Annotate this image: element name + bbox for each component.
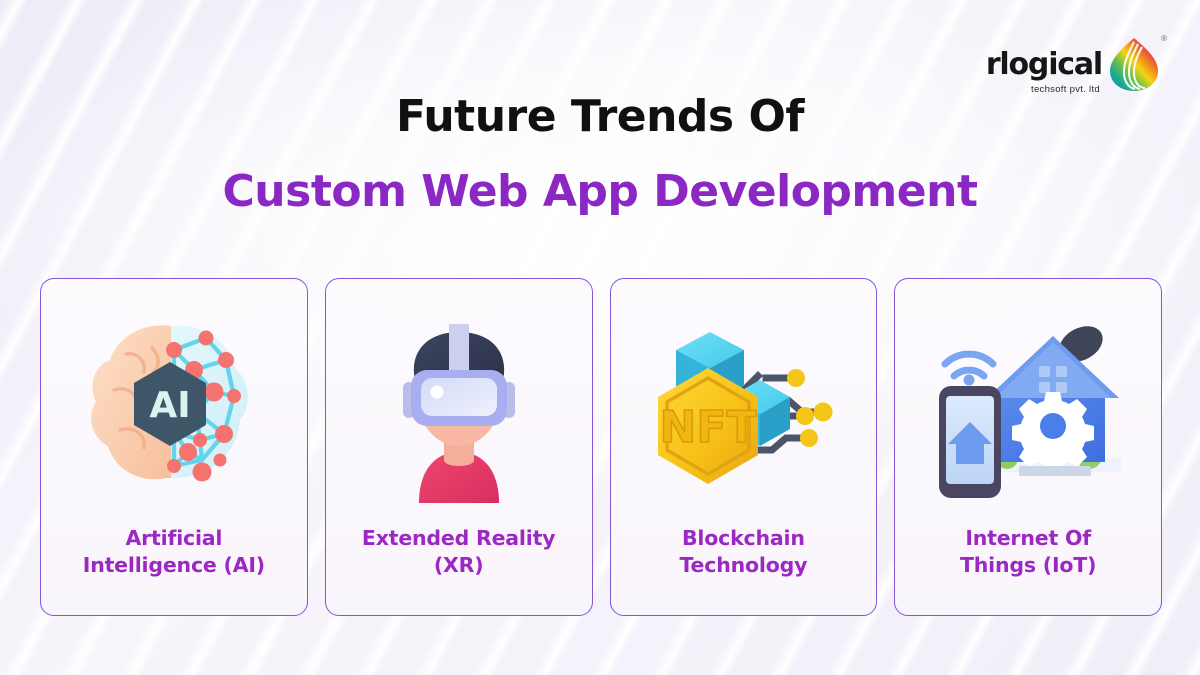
trend-card-internet-of-things[interactable]: Internet Of Things (IoT) bbox=[894, 278, 1162, 616]
page-title-line2: Custom Web App Development bbox=[0, 167, 1200, 218]
trend-card-label: Extended Reality (XR) bbox=[362, 525, 555, 597]
nft-coin-text: NFT bbox=[660, 402, 757, 453]
vr-headset-person-icon bbox=[336, 305, 582, 505]
trend-card-label: Blockchain Technology bbox=[680, 525, 808, 597]
card-label-line1: Extended Reality bbox=[362, 526, 555, 550]
ai-badge-text: AI bbox=[149, 385, 190, 426]
ai-brain-network-icon: AI bbox=[51, 305, 297, 505]
page-title-line1: Future Trends Of bbox=[0, 92, 1200, 143]
smart-home-iot-icon bbox=[905, 305, 1151, 505]
card-label-line1: Internet Of bbox=[965, 526, 1091, 550]
infographic-canvas: rlogical techsoft pvt. ltd ® bbox=[0, 0, 1200, 675]
trend-card-label: Artificial Intelligence (AI) bbox=[83, 525, 265, 597]
trend-card-artificial-intelligence[interactable]: AI Artificial Intelligence (AI) bbox=[40, 278, 308, 616]
trend-card-row: AI Artificial Intelligence (AI) bbox=[40, 278, 1162, 616]
card-label-line2: (XR) bbox=[434, 553, 484, 577]
trend-card-extended-reality[interactable]: Extended Reality (XR) bbox=[325, 278, 593, 616]
nft-coin-blockchain-icon: NFT bbox=[621, 305, 867, 505]
logo-wordmark: rlogical bbox=[986, 50, 1102, 80]
registered-trademark-symbol: ® bbox=[1161, 34, 1167, 43]
trend-card-label: Internet Of Things (IoT) bbox=[960, 525, 1096, 597]
card-label-line1: Blockchain bbox=[682, 526, 805, 550]
logo-text-block: rlogical techsoft pvt. ltd bbox=[986, 34, 1102, 95]
rainbow-droplet-icon: ® bbox=[1108, 34, 1160, 94]
card-label-line2: Things (IoT) bbox=[960, 553, 1096, 577]
card-label-line2: Technology bbox=[680, 553, 808, 577]
trend-card-blockchain[interactable]: NFT Blockchain Technology bbox=[610, 278, 878, 616]
card-label-line1: Artificial bbox=[125, 526, 222, 550]
brand-logo[interactable]: rlogical techsoft pvt. ltd ® bbox=[986, 34, 1160, 95]
card-label-line2: Intelligence (AI) bbox=[83, 553, 265, 577]
page-title-block: Future Trends Of Custom Web App Developm… bbox=[0, 92, 1200, 217]
